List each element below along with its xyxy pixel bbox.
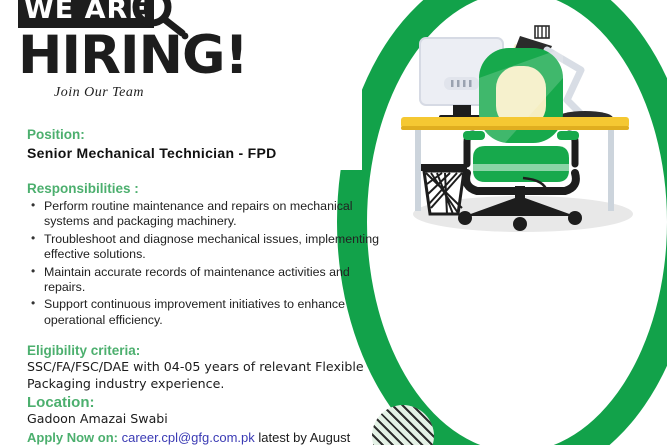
tagline: Join Our Team bbox=[54, 85, 368, 101]
apply-deadline: latest by August bbox=[258, 430, 350, 445]
desk-leg-left bbox=[415, 121, 421, 211]
apply-email-link[interactable]: career.cpl@gfg.com.pk bbox=[122, 430, 255, 445]
location-label: Location: bbox=[27, 394, 387, 411]
position-label: Position: bbox=[27, 126, 387, 143]
job-details: Position: Senior Mechanical Technician -… bbox=[27, 126, 387, 445]
magnifying-glass-icon bbox=[118, 0, 198, 40]
eligibility-label: Eligibility criteria: bbox=[27, 342, 387, 359]
list-item: Perform routine maintenance and repairs … bbox=[27, 199, 387, 230]
position-value: Senior Mechanical Technician - FPD bbox=[27, 144, 387, 163]
desk-leg-right bbox=[608, 121, 614, 211]
workspace-illustration bbox=[395, 18, 645, 240]
apply-line: Apply Now on: career.cpl@gfg.com.pk late… bbox=[27, 430, 387, 445]
desk-icon bbox=[401, 117, 629, 130]
list-item: Troubleshoot and diagnose mechanical iss… bbox=[27, 232, 387, 263]
list-item: Support continuous improvement initiativ… bbox=[27, 297, 387, 328]
job-poster: WE ARE HIRING! Join Our Team Position: S… bbox=[0, 0, 667, 445]
list-item: Maintain accurate records of maintenance… bbox=[27, 265, 387, 296]
responsibilities-label: Responsibilities : bbox=[27, 180, 387, 197]
location-value: Gadoon Amazai Swabi bbox=[27, 411, 387, 428]
waste-basket-icon bbox=[421, 164, 467, 214]
eligibility-text: SSC/FA/FSC/DAE with 04-05 years of relev… bbox=[27, 359, 387, 392]
apply-prefix: Apply Now on: bbox=[27, 430, 118, 445]
responsibilities-list: Perform routine maintenance and repairs … bbox=[27, 199, 387, 328]
